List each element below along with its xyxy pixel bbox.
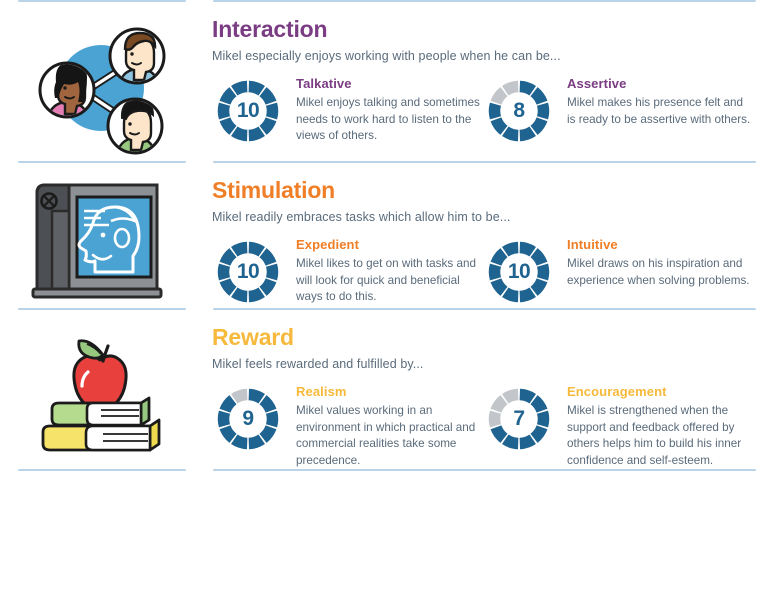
section-intro: Mikel especially enjoys working with peo… (212, 49, 754, 63)
section-stimulation: Stimulation Mikel readily embraces tasks… (0, 163, 768, 308)
score-donut: 8 (483, 75, 555, 147)
score-value: 10 (212, 75, 284, 147)
trait-card[interactable]: 9 Realism Mikel values working in an env… (212, 383, 483, 469)
trait-name: Intuitive (567, 237, 754, 252)
trait-card[interactable]: 8 Assertive Mikel makes his presence fel… (483, 75, 754, 147)
score-value: 9 (212, 383, 284, 455)
trait-description: Mikel values working in an environment i… (296, 403, 483, 469)
score-donut: 10 (212, 236, 284, 308)
score-donut: 10 (212, 75, 284, 147)
section-content: Reward Mikel feels rewarded and fulfille… (200, 310, 768, 469)
section-divider-bottom (0, 469, 768, 471)
score-value: 7 (483, 383, 555, 455)
trait-description: Mikel likes to get on with tasks and wil… (296, 256, 483, 306)
trait-card[interactable]: 10 Intuitive Mikel draws on his inspirat… (483, 236, 754, 308)
apple-on-books-icon (25, 324, 175, 469)
people-network-icon (25, 16, 175, 161)
trait-text: Assertive Mikel makes his presence felt … (567, 75, 754, 128)
trait-name: Encouragement (567, 384, 754, 399)
trait-text: Encouragement Mikel is strengthened when… (567, 383, 754, 469)
trait-text: Expedient Mikel likes to get on with tas… (296, 236, 483, 306)
illustration-apple-books (0, 310, 200, 469)
score-donut: 7 (483, 383, 555, 455)
trait-list: 9 Realism Mikel values working in an env… (212, 383, 754, 469)
score-donut: 10 (483, 236, 555, 308)
trait-list: 10 Talkative Mikel enjoys talking and so… (212, 75, 754, 147)
trait-card[interactable]: 10 Talkative Mikel enjoys talking and so… (212, 75, 483, 147)
trait-description: Mikel makes his presence felt and is rea… (567, 95, 754, 128)
brain-scanner-monitor-icon (25, 177, 175, 307)
trait-description: Mikel draws on his inspiration and exper… (567, 256, 754, 289)
score-value: 8 (483, 75, 555, 147)
trait-name: Realism (296, 384, 483, 399)
section-content: Interaction Mikel especially enjoys work… (200, 2, 768, 161)
trait-description: Mikel is strengthened when the support a… (567, 403, 754, 469)
illustration-brain-scanner (0, 163, 200, 308)
section-content: Stimulation Mikel readily embraces tasks… (200, 163, 768, 308)
score-value: 10 (212, 236, 284, 308)
section-title: Stimulation (212, 177, 754, 204)
trait-name: Expedient (296, 237, 483, 252)
score-value: 10 (483, 236, 555, 308)
trait-description: Mikel enjoys talking and sometimes needs… (296, 95, 483, 145)
section-title: Interaction (212, 16, 754, 43)
report-page: Interaction Mikel especially enjoys work… (0, 0, 768, 602)
trait-card[interactable]: 7 Encouragement Mikel is strengthened wh… (483, 383, 754, 469)
trait-name: Talkative (296, 76, 483, 91)
divider-left-segment (18, 469, 186, 471)
trait-card[interactable]: 10 Expedient Mikel likes to get on with … (212, 236, 483, 308)
trait-text: Realism Mikel values working in an envir… (296, 383, 483, 469)
illustration-people-network (0, 2, 200, 161)
trait-name: Assertive (567, 76, 754, 91)
trait-text: Intuitive Mikel draws on his inspiration… (567, 236, 754, 289)
score-donut: 9 (212, 383, 284, 455)
trait-text: Talkative Mikel enjoys talking and somet… (296, 75, 483, 145)
divider-right-segment (213, 469, 756, 471)
trait-list: 10 Expedient Mikel likes to get on with … (212, 236, 754, 308)
section-intro: Mikel feels rewarded and fulfilled by... (212, 357, 754, 371)
section-intro: Mikel readily embraces tasks which allow… (212, 210, 754, 224)
section-interaction: Interaction Mikel especially enjoys work… (0, 2, 768, 161)
section-reward: Reward Mikel feels rewarded and fulfille… (0, 310, 768, 469)
section-title: Reward (212, 324, 754, 351)
